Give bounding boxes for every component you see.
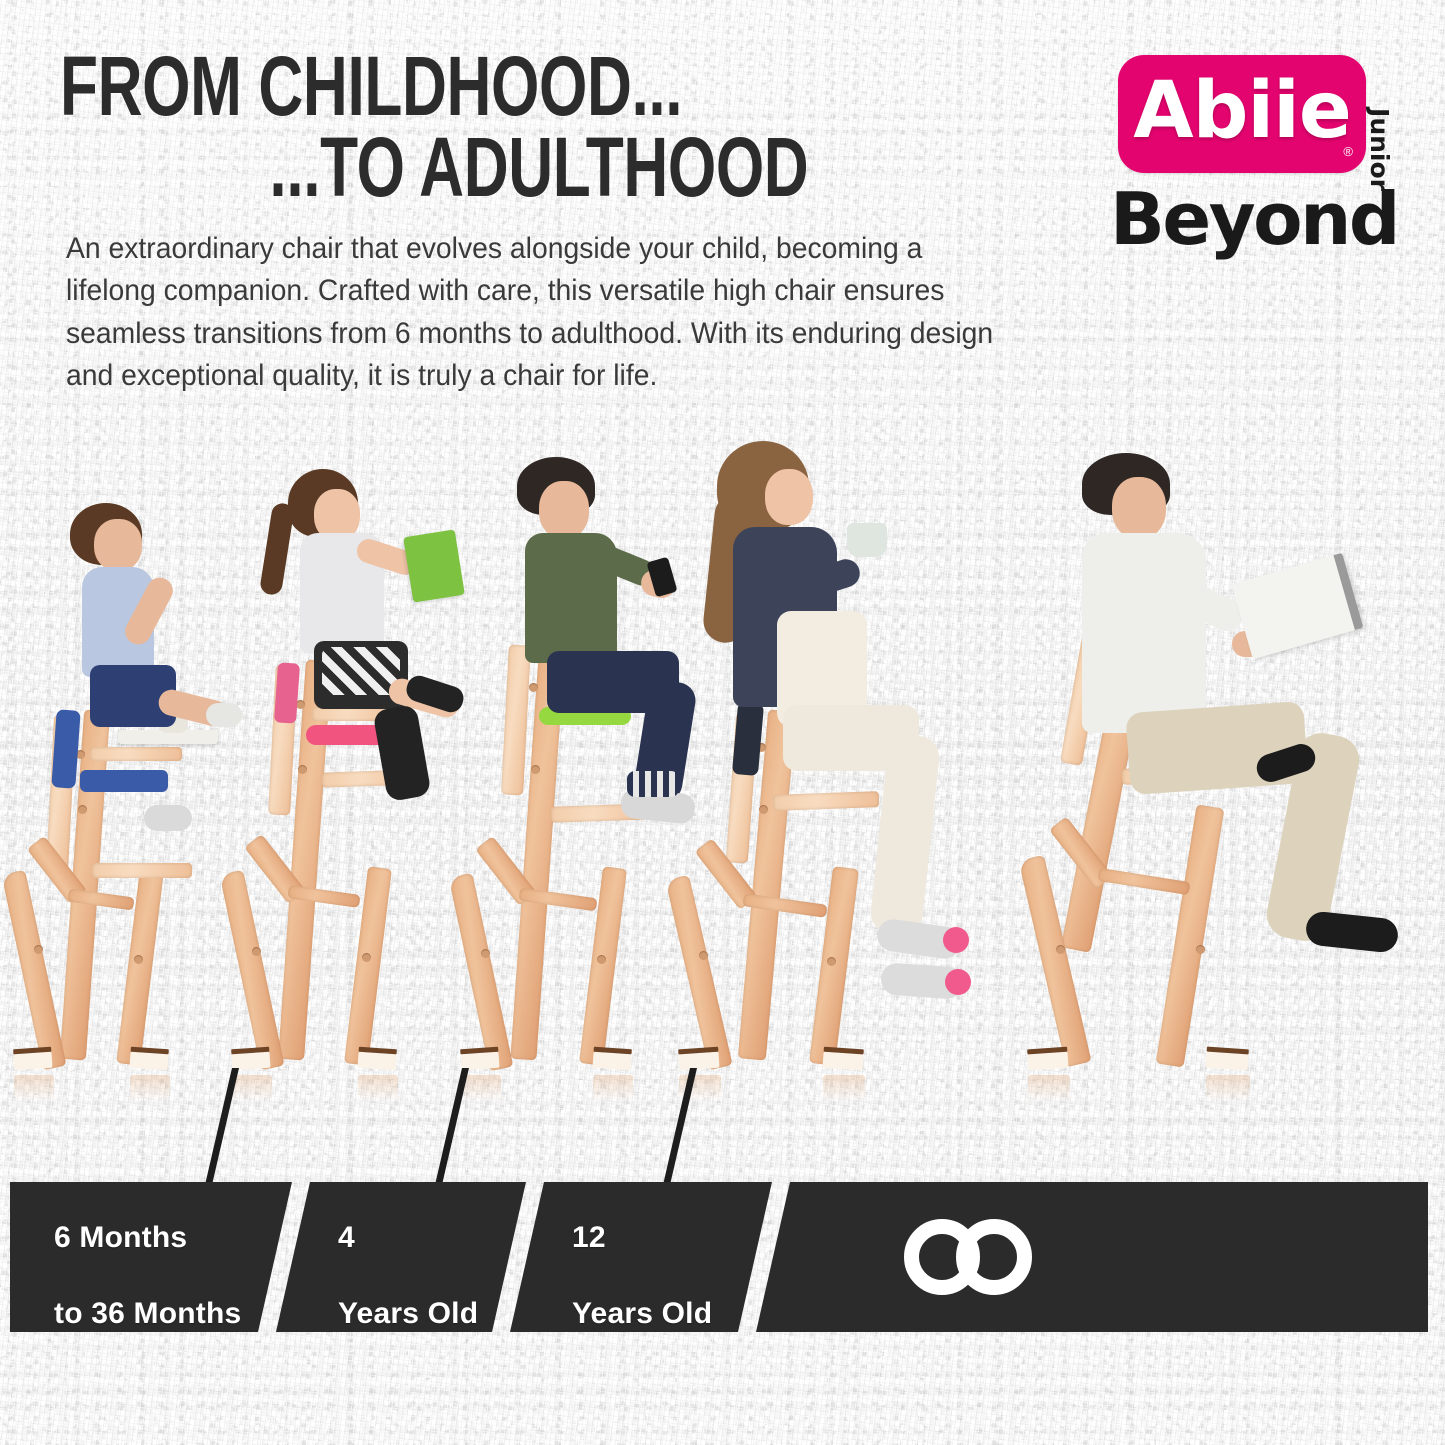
- timeline-stage-0-label: 6 Months to 36 Months: [54, 1180, 241, 1334]
- chair-dowel-icon: [362, 953, 371, 962]
- seat-cushion-back: [732, 702, 764, 776]
- description-paragraph: An extraordinary chair that evolves alon…: [66, 228, 1002, 398]
- chair-dowel-icon: [531, 765, 540, 774]
- brand-logo: Abiie ® Beyond Junior: [1118, 55, 1388, 263]
- headline-line-2: ...TO ADULTHOOD: [60, 129, 763, 206]
- chair-dowel-icon: [529, 683, 538, 692]
- floor-reflection: [461, 1075, 501, 1101]
- chair-dowel-icon: [298, 765, 307, 774]
- chair-dowel-icon: [1196, 945, 1205, 954]
- book: [1231, 553, 1363, 660]
- logo-badge: Abiie ®: [1118, 55, 1366, 173]
- chair-progression-scene: [0, 455, 1445, 1075]
- chair-dowel-icon: [759, 805, 768, 814]
- timeline-stage-3[interactable]: [756, 1182, 1428, 1332]
- timeline-stage-1[interactable]: 4 Years Old: [276, 1182, 526, 1332]
- figure-man: [1020, 475, 1440, 1075]
- chair-rear-leg: [809, 866, 859, 1066]
- floor-reflection: [1028, 1075, 1070, 1101]
- chair-dowel-icon: [78, 805, 87, 814]
- chair-dowel-icon: [34, 945, 43, 954]
- chair-cross-brace: [1098, 868, 1191, 895]
- chair-foot-cap: [1027, 1052, 1068, 1071]
- chair-front-leg-curve: [449, 873, 514, 1072]
- floor-reflection: [14, 1075, 54, 1101]
- timeline-stage-1-label: 4 Years Old: [338, 1180, 478, 1334]
- floor-reflection: [823, 1075, 865, 1101]
- girl-boot: [372, 704, 431, 802]
- timeline-stage-2-label: 12 Years Old: [572, 1180, 712, 1334]
- logo-subline: Beyond Junior: [1118, 183, 1388, 263]
- chair-dowel-icon: [134, 955, 143, 964]
- infinity-ring-right: [956, 1219, 1032, 1295]
- man-face: [1112, 477, 1166, 539]
- seat-cushion-back: [274, 662, 300, 723]
- boy-face: [539, 481, 589, 539]
- stage-unit: to 36 Months: [54, 1297, 241, 1330]
- infographic-canvas: FROM CHILDHOOD... ...TO ADULTHOOD An ext…: [0, 0, 1445, 1445]
- chair-dowel-icon: [1056, 945, 1065, 954]
- man-trousers-hip: [1125, 701, 1308, 795]
- floor-reflection: [1206, 1075, 1250, 1101]
- floor-reflection: [130, 1075, 170, 1101]
- stage-age: 6 Months: [54, 1221, 187, 1254]
- sock-pink-toe: [943, 927, 969, 953]
- chair-foot-cap: [592, 1052, 631, 1071]
- man-shirt: [1082, 533, 1206, 733]
- chair-footrest: [92, 863, 192, 878]
- floor-reflection: [358, 1075, 398, 1101]
- toddler-sock: [144, 805, 192, 831]
- headline-block: FROM CHILDHOOD... ...TO ADULTHOOD: [60, 48, 1010, 207]
- age-timeline-bar: 6 Months to 36 Months 4 Years Old 12 Yea…: [10, 1182, 1428, 1332]
- floor-reflection: [593, 1075, 633, 1101]
- chair-foot-cap: [1205, 1052, 1248, 1071]
- stage-unit: Years Old: [338, 1297, 478, 1330]
- logo-product-text: Beyond: [1110, 183, 1398, 255]
- seat-cushion-base: [80, 770, 168, 792]
- chair-front-leg-curve: [219, 870, 284, 1071]
- chair-back-rail: [501, 645, 531, 796]
- chair-foot-cap: [357, 1052, 396, 1071]
- timeline-stage-2[interactable]: 12 Years Old: [510, 1182, 772, 1332]
- chair-foot-cap: [13, 1052, 52, 1071]
- chair-seat-plate: [90, 747, 182, 761]
- headline-line-1: FROM CHILDHOOD...: [60, 48, 763, 125]
- registered-trademark-icon: ®: [1343, 144, 1353, 159]
- girl-braid: [259, 502, 295, 596]
- chair-rear-leg: [1156, 804, 1225, 1067]
- toddler-face: [94, 519, 142, 571]
- chair-dowel-icon: [252, 947, 261, 956]
- logo-edition-text: Junior: [1365, 108, 1394, 191]
- chair-seat-plate: [773, 791, 879, 811]
- woman-face: [765, 469, 813, 525]
- chair-dowel-icon: [827, 957, 836, 966]
- stage-age: 4: [338, 1221, 355, 1254]
- chair-dowel-icon: [597, 955, 606, 964]
- chair-foot-cap: [822, 1052, 863, 1071]
- logo-brand-text: Abiie: [1133, 72, 1351, 150]
- floor-reflection: [232, 1075, 272, 1101]
- stage-age: 12: [572, 1221, 606, 1254]
- chair-front-leg-curve: [665, 875, 732, 1070]
- figure-woman: [665, 475, 1025, 1075]
- man-sock: [1304, 910, 1399, 953]
- chair-foot-cap: [129, 1052, 168, 1071]
- chair-foot-cap: [678, 1052, 719, 1071]
- infinity-icon: [904, 1219, 1032, 1295]
- stage-unit: Years Old: [572, 1297, 712, 1330]
- chair-dowel-icon: [699, 951, 708, 960]
- chair-front-leg-curve: [1, 870, 66, 1071]
- sock-pink-toe: [945, 969, 971, 995]
- mug: [847, 523, 887, 557]
- chair-dowel-icon: [481, 949, 490, 958]
- seat-cushion-back: [51, 709, 80, 788]
- timeline-stage-0[interactable]: 6 Months to 36 Months: [10, 1182, 292, 1332]
